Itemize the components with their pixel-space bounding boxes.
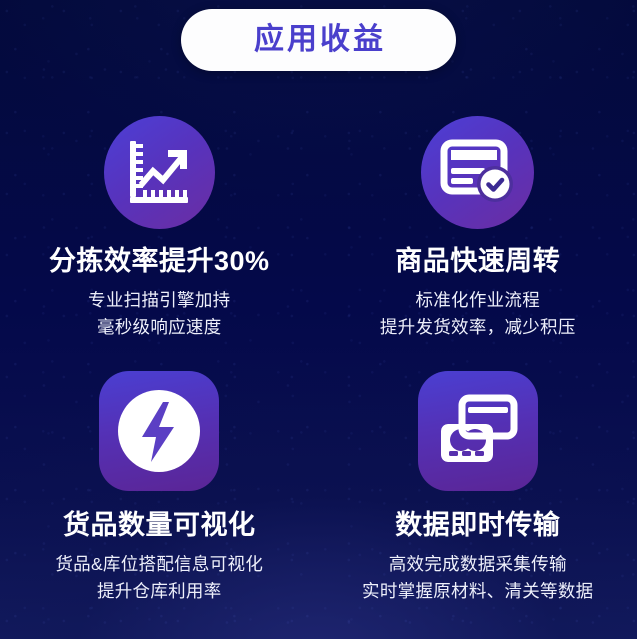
promo-page: 应用收益 [0, 0, 637, 639]
benefit-subtitle-line: 标准化作业流程 [380, 287, 576, 314]
section-title-pill: 应用收益 [181, 9, 456, 71]
benefit-icon-wrapper [101, 114, 217, 230]
benefit-subtitle-line: 实时掌握原材料、清关等数据 [362, 578, 593, 605]
benefit-title: 分拣效率提升30% [49, 246, 270, 277]
benefit-subtitle-line: 毫秒级响应速度 [88, 314, 230, 341]
page-title: 应用收益 [251, 25, 386, 55]
benefit-icon-wrapper [417, 370, 539, 492]
benefit-subtitle: 标准化作业流程 提升发货效率，减少积压 [380, 287, 576, 341]
card-verified-check-icon [421, 116, 534, 229]
benefit-subtitle-line: 货品&库位搭配信息可视化 [55, 551, 263, 578]
benefit-icon-wrapper [420, 114, 536, 230]
header: 应用收益 [0, 9, 637, 71]
benefits-grid: 分拣效率提升30% 专业扫描引擎加持 毫秒级响应速度 [0, 112, 637, 628]
lightning-bolt-icon [99, 371, 219, 491]
benefit-card[interactable]: 商品快速周转 标准化作业流程 提升发货效率，减少积压 [319, 112, 637, 370]
benefit-card[interactable]: 分拣效率提升30% 专业扫描引擎加持 毫秒级响应速度 [0, 112, 319, 370]
benefit-card[interactable]: 货品数量可视化 货品&库位搭配信息可视化 提升仓库利用率 [0, 370, 319, 628]
benefit-card[interactable]: 数据即时传输 高效完成数据采集传输 实时掌握原材料、清关等数据 [319, 370, 637, 628]
bar-chart-growth-icon [104, 116, 215, 229]
benefit-title: 货品数量可视化 [63, 510, 256, 541]
benefit-title: 数据即时传输 [395, 510, 560, 541]
benefit-icon-wrapper [98, 370, 220, 492]
benefit-subtitle-line: 高效完成数据采集传输 [362, 551, 593, 578]
benefit-subtitle-line: 专业扫描引擎加持 [88, 287, 230, 314]
benefit-title: 商品快速周转 [395, 246, 560, 277]
benefit-subtitle: 高效完成数据采集传输 实时掌握原材料、清关等数据 [362, 551, 593, 605]
benefit-subtitle-line: 提升仓库利用率 [55, 578, 263, 605]
benefit-subtitle: 货品&库位搭配信息可视化 提升仓库利用率 [55, 551, 263, 605]
benefit-subtitle: 专业扫描引擎加持 毫秒级响应速度 [88, 287, 230, 341]
stacked-cards-transfer-icon [418, 371, 538, 491]
benefit-subtitle-line: 提升发货效率，减少积压 [380, 314, 576, 341]
